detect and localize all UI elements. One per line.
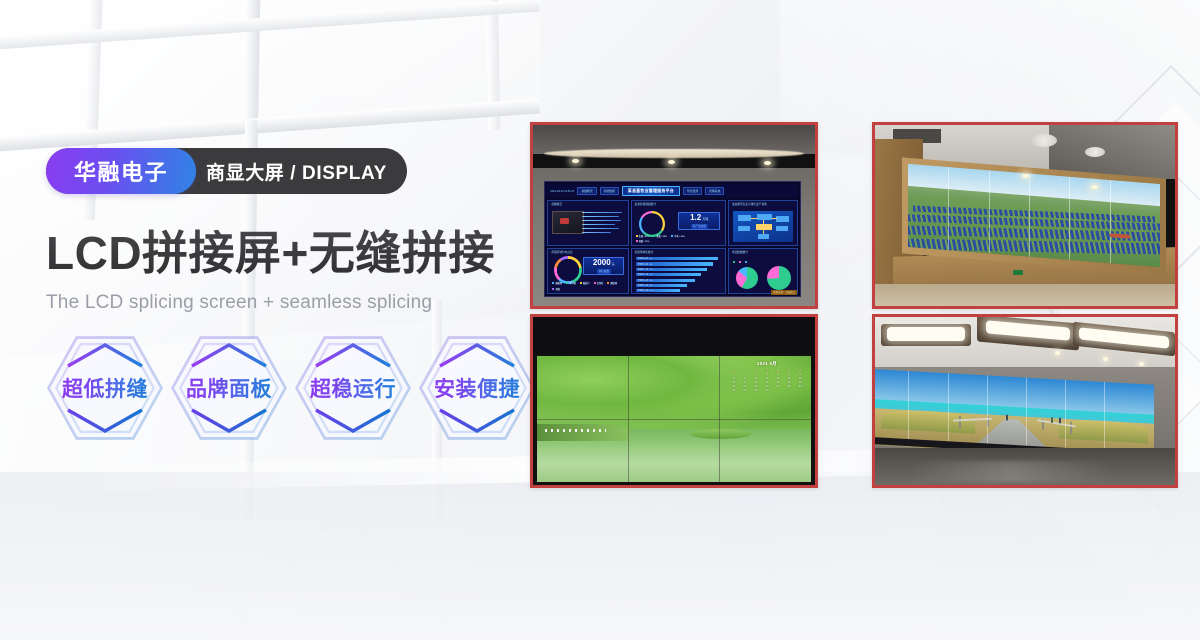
dashboard-metric-label: 存栏总数 (597, 269, 611, 274)
calendar-day: 26 (795, 385, 805, 388)
dashboard-bar-label: 养殖场 B 区 / 85 (636, 263, 653, 266)
calendar-day: 17 (773, 381, 783, 384)
dashboard-bar-label: 养殖场 F 区 / 55 (636, 284, 653, 287)
calendar-day: 15 (751, 381, 761, 384)
calendar-day: 22 (751, 385, 761, 388)
dashboard-legend-item: 散养户 (583, 281, 590, 285)
calendar-day: 19 (795, 381, 805, 384)
dashboard-card: 生态循环农业与绿色生产基地 (728, 200, 798, 246)
dashboard-tab: 养殖数据 (600, 187, 619, 195)
page-subtitle: The LCD splicing screen + seamless splic… (46, 292, 432, 314)
gallery-photo-solar-corridor[interactable] (872, 122, 1178, 309)
dashboard-card: 基础概况 (547, 200, 628, 246)
chevron-up-icon (190, 342, 268, 368)
dashboard-card-header: 养殖场排名统计 (635, 250, 654, 254)
feature-hexagon-row: 超低拼缝 (46, 332, 536, 444)
dashboard-card-header: 基础概况 (551, 202, 562, 206)
dashboard-card: 年度数据统计 (728, 248, 798, 294)
calendar-day: 4 (784, 373, 794, 376)
dashboard-card: 畜禽养殖规模统计 1.2 万吨 年产出总量 生猪 / 4 (631, 200, 726, 246)
calendar-day: 28 (740, 389, 750, 392)
dashboard-bar-label: 养殖场 A 区 / 92 (636, 257, 653, 260)
product-banner: 商显大屏 / DISPLAY 华融电子 LCD拼接屏+无缝拼接 The LCD … (0, 0, 1200, 640)
dashboard-bar-label: 养殖场 D 区 / 70 (636, 273, 653, 276)
calendar-day: 2 (762, 373, 772, 376)
calendar-day: 14 (740, 381, 750, 384)
dashboard-legend-item: 规模场 (555, 281, 562, 285)
calendar-day (729, 373, 739, 376)
dashboard-card: 养殖场排名统计 养殖场 A 区 / 92 养殖场 B 区 / 85 养殖场 C … (631, 248, 726, 294)
calendar-day: 16 (762, 381, 772, 384)
dashboard-tab: 基础概况 (577, 187, 596, 195)
calendar-day: 7 (740, 377, 750, 380)
gallery-photo-control-room[interactable]: 2021-09-13 10:51:27 基础概况 养殖数据 某县畜牧业管理服务平… (530, 122, 818, 309)
dashboard-card-header: 畜禽养殖规模统计 (635, 202, 657, 206)
brand-pill: 华融电子 (46, 148, 196, 194)
calendar-day: 27 (729, 389, 739, 392)
calendar-day: 1 (751, 373, 761, 376)
left-content: 商显大屏 / DISPLAY 华融电子 LCD拼接屏+无缝拼接 The LCD … (46, 0, 526, 640)
dashboard-legend-item: 其他 (555, 287, 559, 291)
feature-label: 品牌面板 (186, 373, 272, 403)
chevron-up-icon (314, 342, 392, 368)
calendar-day: 3 (773, 373, 783, 376)
dashboard-legend-item: 其他 / 12% (639, 239, 650, 243)
dashboard-card-header: 年度数据统计 (732, 250, 748, 254)
dashboard-footer-note: 数据来源：县畜牧站 (771, 290, 797, 295)
calendar-day: 5 (795, 373, 805, 376)
dashboard-metric-value: 1.2 (690, 214, 701, 222)
calendar-day: 21 (740, 385, 750, 388)
calendar-day: 18 (784, 381, 794, 384)
feature-label: 安装便捷 (434, 373, 520, 403)
dashboard-metric-label: 年产出总量 (691, 224, 708, 229)
gallery-photo-beach-lobby[interactable] (872, 314, 1178, 488)
dashboard-bar-label: 养殖场 C 区 / 78 (636, 268, 653, 271)
calendar-day: 25 (784, 385, 794, 388)
calendar-day: 9 (762, 377, 772, 380)
dashboard-legend-item: 生猪 / 42% (639, 234, 650, 238)
calendar-day: 29 (751, 389, 761, 392)
videowall-willow-lake: 2021 6月 日 一 二 三 四 五 六 1 2 3 4 (537, 356, 811, 482)
dashboard-legend-item: 合作社 (597, 281, 604, 285)
dashboard-legend-item: 中小场 (569, 281, 576, 285)
dashboard-tab: 环境监测 (683, 187, 702, 195)
dashboard-metric-value: 2000 (593, 259, 611, 267)
calendar-title: 2021 6月 (729, 361, 806, 367)
feature-label: 超低拼缝 (62, 373, 148, 403)
brand-name: 华融电子 (74, 155, 168, 187)
chevron-up-icon (438, 342, 516, 368)
calendar-grid: 日 一 二 三 四 五 六 1 2 3 4 5 6 (729, 369, 806, 392)
calendar-day (740, 373, 750, 376)
dashboard-legend-item: 家禽 / 28% (656, 234, 667, 238)
dashboard-tab: 管理系统 (705, 187, 724, 195)
dashboard-metric-unit: 万吨 (702, 217, 708, 221)
dashboard-legend-item: 牛羊 / 18% (674, 234, 685, 238)
gallery-photo-willow-lake[interactable]: 2021 6月 日 一 二 三 四 五 六 1 2 3 4 (530, 314, 818, 488)
calendar-day: 23 (762, 385, 772, 388)
calendar-day: 20 (729, 385, 739, 388)
chevron-down-icon (314, 408, 392, 434)
calendar-day: 24 (773, 385, 783, 388)
dashboard-card-header: 生态循环农业与绿色生产基地 (732, 202, 767, 206)
page-title: LCD拼接屏+无缝拼接 (46, 226, 495, 280)
calendar-overlay: 2021 6月 日 一 二 三 四 五 六 1 2 3 4 (729, 361, 806, 427)
chevron-down-icon (66, 408, 144, 434)
feature-hexagon: 超低拼缝 (46, 332, 164, 444)
calendar-weekday: 一 (740, 369, 750, 373)
dashboard-bar-label: 养殖场 E 区 / 64 (636, 279, 653, 282)
chevron-down-icon (438, 408, 516, 434)
dashboard-title: 某县畜牧业管理服务平台 (622, 186, 680, 196)
dashboard-card-header: 养殖区域分布占比 (551, 250, 573, 254)
dashboard-bar-label: 养殖场 G 区 / 47 (636, 289, 653, 292)
feature-hexagon: 品牌面板 (170, 332, 288, 444)
dashboard-legend-item: 家庭场 (610, 281, 617, 285)
calendar-weekday: 日 (729, 369, 739, 373)
dashboard-timestamp: 2021-09-13 10:51:27 (550, 190, 574, 193)
feature-hexagon: 安装便捷 (418, 332, 536, 444)
calendar-day: 6 (729, 377, 739, 380)
chevron-up-icon (66, 342, 144, 368)
calendar-day: 30 (762, 389, 772, 392)
category-label: 商显大屏 / DISPLAY (206, 158, 387, 185)
dashboard-card: 养殖区域分布占比 2000 头 存栏总数 规模场 (547, 248, 628, 294)
feature-label: 超稳运行 (310, 373, 396, 403)
dashboard-metric-unit: 头 (612, 262, 615, 266)
calendar-day: 12 (795, 377, 805, 380)
dashboard-screen: 2021-09-13 10:51:27 基础概况 养殖数据 某县畜牧业管理服务平… (544, 181, 801, 297)
calendar-day: 10 (773, 377, 783, 380)
feature-hexagon: 超稳运行 (294, 332, 412, 444)
calendar-day: 8 (751, 377, 761, 380)
chevron-down-icon (190, 408, 268, 434)
calendar-day: 13 (729, 381, 739, 384)
calendar-day: 11 (784, 377, 794, 380)
